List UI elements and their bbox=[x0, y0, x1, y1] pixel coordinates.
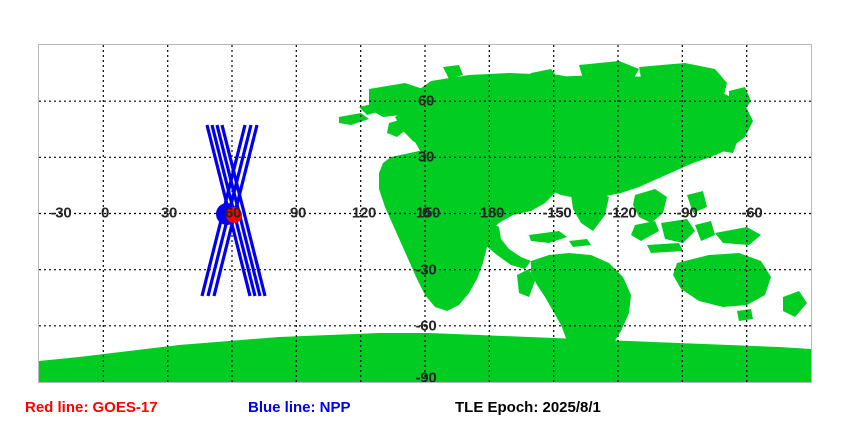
legend-tle-epoch: TLE Epoch: 2025/8/1 bbox=[455, 400, 601, 415]
new-zealand bbox=[783, 291, 807, 317]
lat-label--60: -60 bbox=[416, 319, 437, 334]
legend-blue-line-npp: Blue line: NPP bbox=[248, 400, 351, 415]
lon-label-0: 0 bbox=[101, 206, 109, 221]
lat-label--30: -30 bbox=[416, 263, 437, 278]
lon-label-30: 30 bbox=[161, 206, 177, 221]
lon-label-60: 60 bbox=[225, 206, 241, 221]
java bbox=[647, 243, 683, 253]
lon-label-150: 150 bbox=[416, 206, 440, 221]
lon-label--90: -90 bbox=[677, 206, 698, 221]
satellite-ground-track-figure: 90 60 30 0 -30 -60 -90 -30 0 30 60 90 12… bbox=[0, 0, 850, 425]
lon-label--120: -120 bbox=[608, 206, 637, 221]
cuba bbox=[529, 231, 567, 243]
australia bbox=[673, 253, 771, 307]
tasmania bbox=[737, 309, 753, 321]
world-map-plot-area: 90 60 30 0 -30 -60 -90 -30 0 30 60 90 12… bbox=[38, 44, 812, 383]
hispaniola bbox=[569, 239, 591, 247]
aleutians bbox=[339, 113, 369, 125]
lon-label--150: -150 bbox=[543, 206, 572, 221]
sumatra bbox=[631, 221, 659, 241]
lon-label-90: 90 bbox=[290, 206, 306, 221]
borneo bbox=[661, 219, 695, 243]
lon-label--30: -30 bbox=[51, 206, 72, 221]
india bbox=[571, 191, 609, 231]
lat-label-60: 60 bbox=[418, 94, 434, 109]
legend-red-line-goes17: Red line: GOES-17 bbox=[25, 400, 158, 415]
lat-label--90: -90 bbox=[416, 371, 437, 384]
lon-label--60: -60 bbox=[742, 206, 763, 221]
legend-footer: Red line: GOES-17 Blue line: NPP TLE Epo… bbox=[0, 392, 850, 425]
lon-label-120: 120 bbox=[352, 206, 376, 221]
lat-label-90: 90 bbox=[418, 44, 434, 47]
british-isles bbox=[387, 119, 407, 137]
lat-label-30: 30 bbox=[418, 150, 434, 165]
sulawesi bbox=[695, 221, 715, 241]
new-guinea bbox=[715, 227, 761, 245]
southeast-asia bbox=[633, 189, 667, 223]
lon-label-180: 180 bbox=[480, 206, 504, 221]
